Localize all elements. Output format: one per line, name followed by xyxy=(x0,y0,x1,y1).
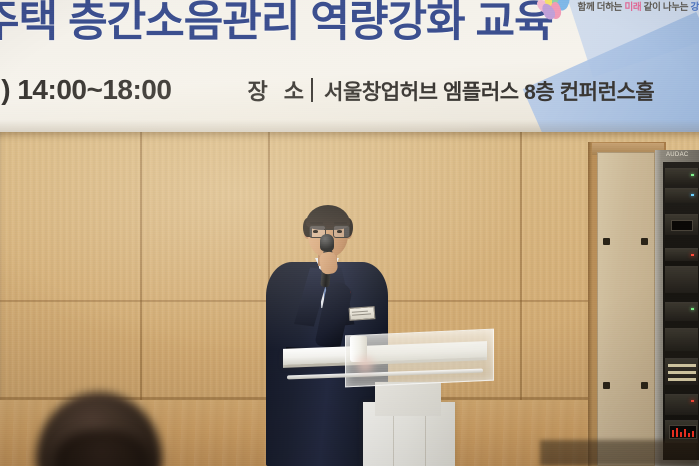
banner-time: 월) 14:00~18:00 xyxy=(0,68,171,108)
speaker-eye xyxy=(313,230,318,233)
organization-logo: 함께 더하는 미래 같이 나누는 강 xyxy=(538,0,699,19)
rack-brand-label: AUDAC xyxy=(666,152,689,158)
rack-unit xyxy=(665,302,698,321)
door-panel xyxy=(597,152,655,466)
rack-unit xyxy=(665,328,698,351)
rack-unit xyxy=(665,168,698,185)
slogan-highlight: 미래 xyxy=(624,2,641,13)
speaker-eyebrow xyxy=(310,222,323,224)
rack-status-led xyxy=(691,308,694,310)
conference-presentation-photo: AUDAC xyxy=(0,0,699,466)
slogan-part-1: 함께 더하는 xyxy=(578,2,625,13)
banner-divider xyxy=(311,78,313,102)
door-stud xyxy=(603,382,610,389)
banner-detail-row: 월) 14:00~18:00 장 소 서울창업허브 엠플러스 8층 컨퍼런스홀 xyxy=(0,68,692,108)
door-stud xyxy=(603,238,610,245)
rack-status-led xyxy=(691,400,694,402)
rack-terminal-strip xyxy=(668,364,696,367)
speaker-hand xyxy=(319,251,339,275)
rack-unit xyxy=(665,214,698,235)
foreground-table xyxy=(540,440,699,466)
podium-column xyxy=(375,382,441,416)
rack-terminal-strip xyxy=(668,371,696,374)
event-banner: 주택 층간소음관리 역량강화 교육 월) 14:00~18:00 장 소 서울창… xyxy=(0,0,699,132)
rack-unit xyxy=(665,266,698,293)
banner-place-value: 서울창업허브 엠플러스 8층 컨퍼런스홀 xyxy=(324,76,654,106)
podium-glare xyxy=(352,352,378,378)
microphone-icon xyxy=(320,234,334,251)
rack-led-display xyxy=(669,425,697,439)
flower-petals-logo-icon xyxy=(538,0,572,19)
equipment-rack xyxy=(663,162,699,460)
rack-unit xyxy=(665,394,698,415)
door-stud xyxy=(641,238,648,245)
slogan-part-2: 같이 나누는 xyxy=(641,2,690,13)
logo-slogan: 함께 더하는 미래 같이 나누는 강 xyxy=(578,0,699,13)
door-stud xyxy=(641,382,648,389)
banner-place-label: 장 소 xyxy=(247,74,309,106)
rack-meter-display xyxy=(671,220,693,231)
rack-status-led xyxy=(691,174,694,176)
speaker-eyebrow xyxy=(334,222,347,224)
banner-shadow xyxy=(0,120,699,132)
speaker-name-badge xyxy=(349,306,376,321)
rack-terminal-strip xyxy=(668,378,696,381)
banner-place-group: 장 소 서울창업허브 엠플러스 8층 컨퍼런스홀 xyxy=(247,74,654,106)
rack-status-led xyxy=(691,194,694,196)
slogan-part-3: 강 xyxy=(691,2,699,13)
rack-status-led xyxy=(691,254,694,256)
glasses-bridge xyxy=(324,229,333,230)
speaker-eye xyxy=(337,230,342,233)
rack-patch-panel xyxy=(665,358,698,385)
